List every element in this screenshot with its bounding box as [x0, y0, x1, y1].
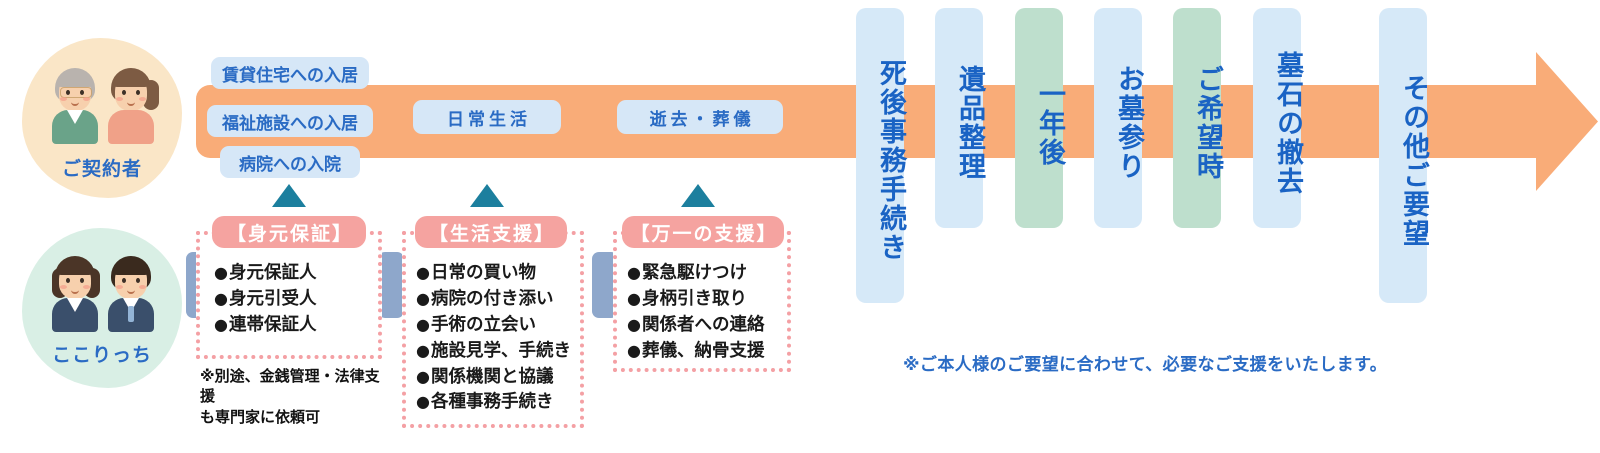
avatar-staff-man [104, 254, 158, 332]
service-card-emergency: 緊急駆けつけ 身柄引き取り 関係者への連絡 葬儀、納骨支援 [613, 231, 791, 372]
timeline-box-on-request[interactable]: ご希望時 [1173, 8, 1221, 228]
avatar-staff-woman [48, 254, 102, 332]
list-item: 手術の立会い [416, 313, 580, 339]
service-list: 日常の買い物 病院の付き添い 手術の立会い 施設見学、手続き 関係機関と協議 各… [416, 261, 580, 416]
service-list: 緊急駆けつけ 身柄引き取り 関係者への連絡 葬儀、納骨支援 [627, 261, 787, 365]
service-card-guarantee: 身元保証人 身元引受人 連帯保証人 [196, 231, 382, 359]
timeline-box-other-requests[interactable]: その他ご要望 [1379, 8, 1427, 303]
service-card-title-lifesupport: 【生活支援】 [415, 216, 567, 248]
persona-contractor: ご契約者 [22, 38, 182, 198]
list-item: 病院の付き添い [416, 287, 580, 313]
avatar-elderly-man [48, 66, 102, 144]
timeline-box-one-year-later[interactable]: 一年後 [1015, 8, 1063, 228]
timeline-box-grave-visit[interactable]: お墓参り [1094, 8, 1142, 228]
list-item: 身元引受人 [214, 287, 378, 313]
note-support-on-request: ※ご本人様のご要望に合わせて、必要なご支援をいたします。 [903, 350, 1387, 375]
list-item: 緊急駆けつけ [627, 261, 787, 287]
footnote-guarantee: ※別途、金銭管理・法律支援 も専門家に依頼可 [200, 366, 390, 427]
persona-label-staff: ここりっち [22, 340, 182, 367]
chip-rental-housing[interactable]: 賃貸住宅への入居 [211, 57, 369, 89]
service-card-title-guarantee: 【身元保証】 [212, 216, 366, 248]
list-item: 葬儀、納骨支援 [627, 339, 787, 365]
list-item: 日常の買い物 [416, 261, 580, 287]
timeline-box-gravestone-removal[interactable]: 墓石の撤去 [1253, 8, 1301, 228]
chip-welfare-facility[interactable]: 福祉施設への入居 [207, 105, 373, 137]
list-item: 身元保証人 [214, 261, 378, 287]
timeline-box-post-death-procedures[interactable]: 死後事務手続き [856, 8, 904, 303]
pointer-triangle-guarantee [272, 184, 306, 207]
chip-hospital-admission[interactable]: 病院への入院 [220, 146, 360, 178]
service-list: 身元保証人 身元引受人 連帯保証人 [214, 261, 378, 339]
arrow-head-icon [1462, 52, 1598, 191]
avatar-elderly-couple [48, 66, 158, 144]
chip-daily-life[interactable]: 日常生活 [413, 100, 561, 134]
list-item: 関係機関と協議 [416, 365, 580, 391]
service-card-title-emergency: 【万一の支援】 [622, 216, 784, 248]
avatar-elderly-woman [104, 66, 158, 144]
timeline-box-belongings-sorting[interactable]: 遺品整理 [935, 8, 983, 228]
list-item: 各種事務手続き [416, 390, 580, 416]
list-item: 関係者への連絡 [627, 313, 787, 339]
chip-death-funeral[interactable]: 逝去・葬儀 [617, 100, 783, 134]
list-item: 連帯保証人 [214, 313, 378, 339]
pointer-triangle-lifesupport [470, 184, 504, 207]
avatar-staff-pair [48, 254, 158, 332]
persona-label-contractor: ご契約者 [22, 154, 182, 181]
persona-staff: ここりっち [22, 228, 182, 388]
pointer-triangle-emergency [681, 184, 715, 207]
list-item: 身柄引き取り [627, 287, 787, 313]
list-item: 施設見学、手続き [416, 339, 580, 365]
diagram-canvas: ご契約者 [0, 0, 1600, 453]
service-card-lifesupport: 日常の買い物 病院の付き添い 手術の立会い 施設見学、手続き 関係機関と協議 各… [402, 231, 584, 428]
